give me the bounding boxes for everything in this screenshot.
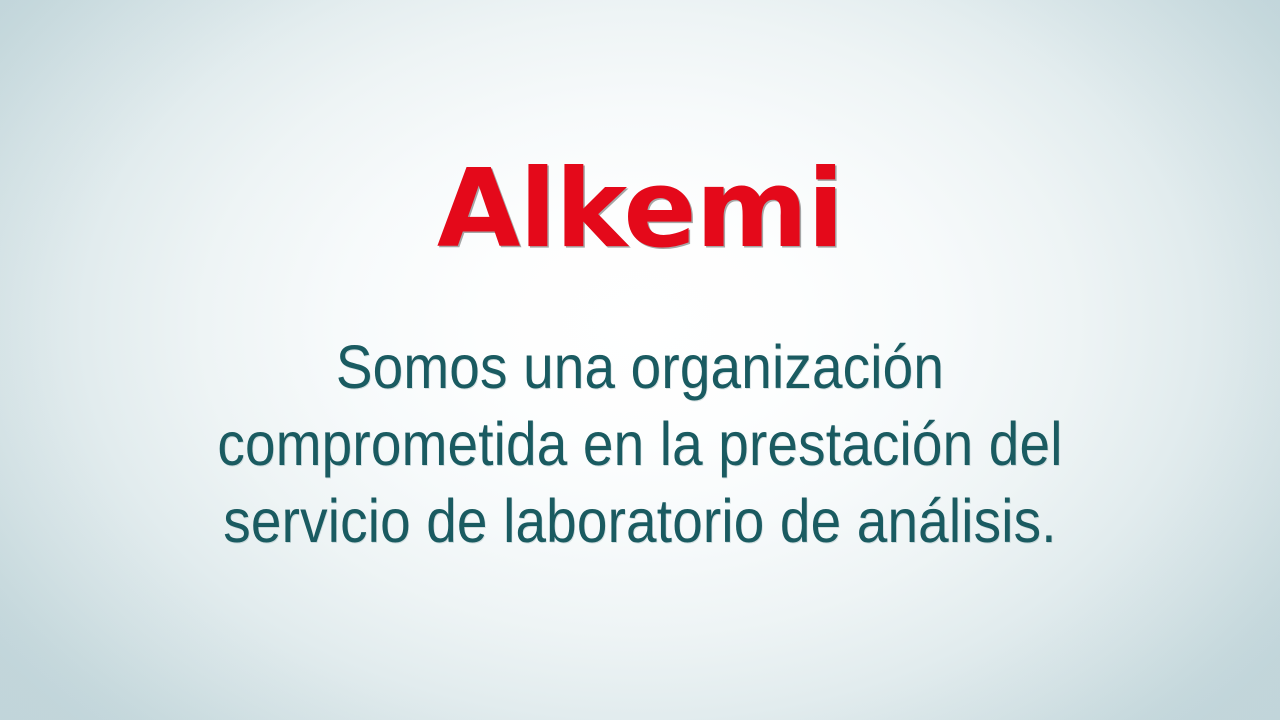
subtitle-line-1: Somos una organización bbox=[64, 329, 1216, 406]
subtitle-line-3: servicio de laboratorio de análisis. bbox=[64, 483, 1216, 560]
slide-content: Alkemi Somos una organización comprometi… bbox=[0, 0, 1280, 720]
slide-subtitle: Somos una organización comprometida en l… bbox=[64, 329, 1216, 560]
subtitle-line-2: comprometida en la prestación del bbox=[64, 406, 1216, 483]
slide-title: Alkemi bbox=[0, 152, 1280, 269]
presentation-slide: Alkemi Somos una organización comprometi… bbox=[0, 0, 1280, 720]
